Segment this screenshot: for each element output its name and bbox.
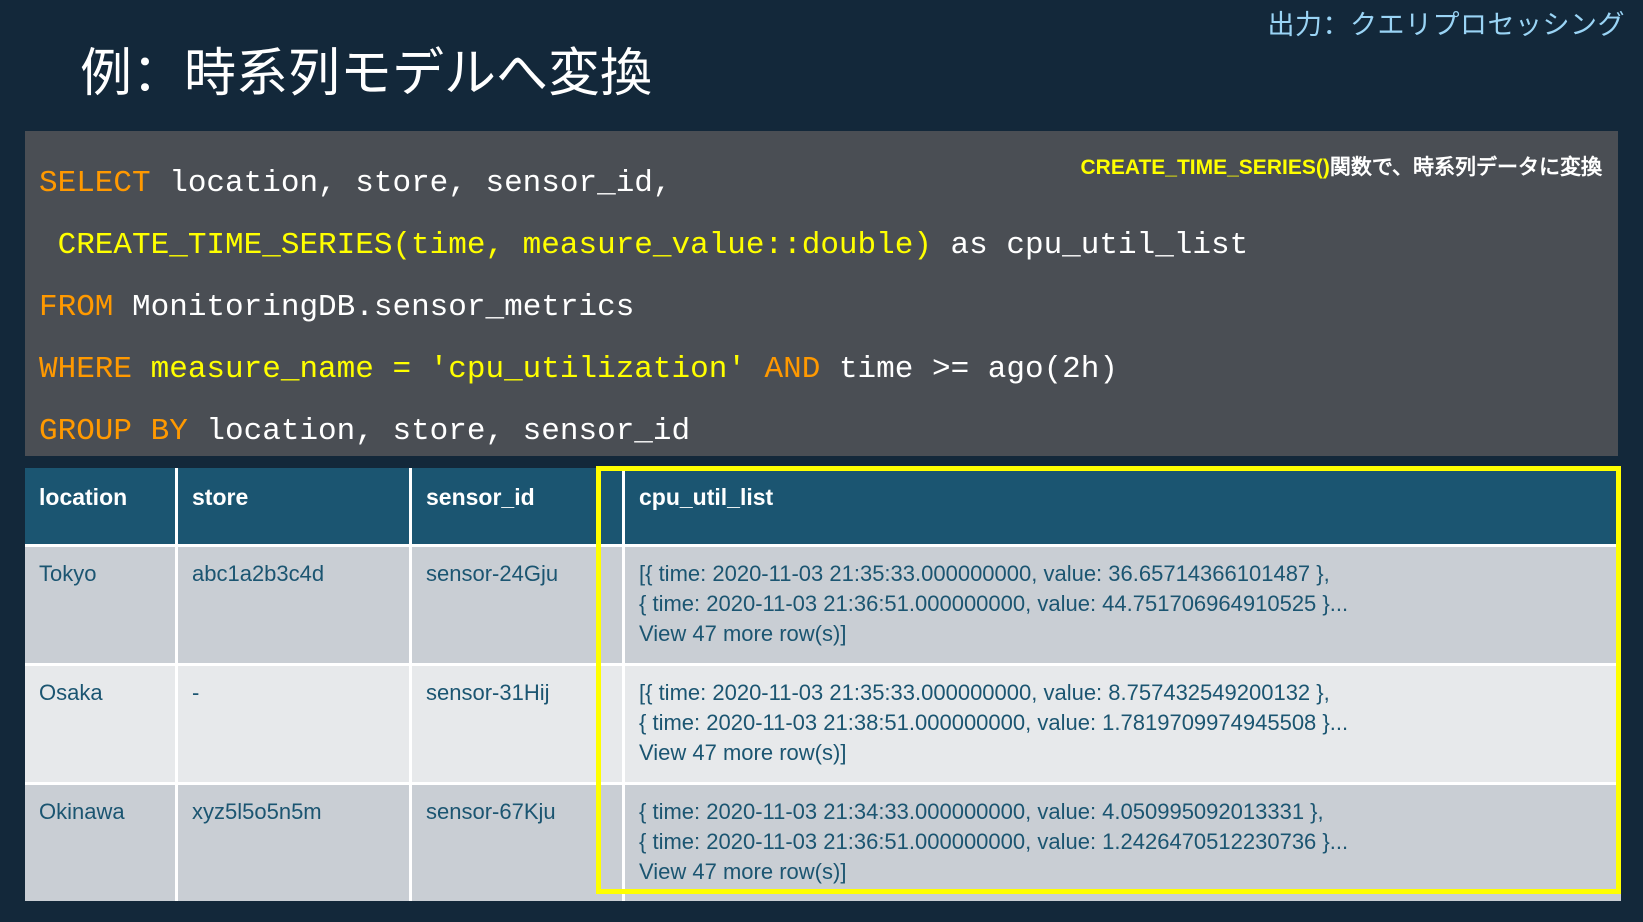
column-header-cpu-util-list: cpu_util_list	[625, 468, 1621, 544]
column-header-location: location	[25, 468, 178, 544]
cell-store: abc1a2b3c4d	[178, 544, 412, 663]
sql-space	[746, 352, 765, 387]
cpu-util-list-view-more[interactable]: View 47 more row(s)]	[639, 738, 1607, 768]
cpu-util-list-line-1: [{ time: 2020-11-03 21:35:33.000000000, …	[639, 678, 1607, 708]
column-header-sensor-id: sensor_id	[412, 468, 625, 544]
cell-location: Okinawa	[25, 782, 178, 901]
cell-cpu-util-list: [{ time: 2020-11-03 21:35:33.000000000, …	[625, 544, 1621, 663]
code-line-create-time-series: CREATE_TIME_SERIES(time, measure_value::…	[25, 215, 1618, 277]
table-row: Okinawa xyz5l5o5n5m sensor-67Kju { time:…	[25, 782, 1621, 901]
sql-keyword-select: SELECT	[39, 166, 151, 201]
sql-time-predicate: time >= ago(2h)	[820, 352, 1118, 387]
sql-keyword-and: AND	[765, 352, 821, 387]
cpu-util-list-view-more[interactable]: View 47 more row(s)]	[639, 857, 1607, 887]
cell-store: -	[178, 663, 412, 782]
code-line-from: FROM MonitoringDB.sensor_metrics	[25, 277, 1618, 339]
table-row: Osaka - sensor-31Hij [{ time: 2020-11-03…	[25, 663, 1621, 782]
sql-keyword-from: FROM	[39, 290, 113, 325]
annotation-description: 関数で、時系列データに変換	[1330, 156, 1602, 179]
cell-location: Osaka	[25, 663, 178, 782]
cell-cpu-util-list: { time: 2020-11-03 21:34:33.000000000, v…	[625, 782, 1621, 901]
column-header-store: store	[178, 468, 412, 544]
section-label: 出力：クエリプロセッシング	[1268, 8, 1626, 42]
cpu-util-list-line-1: [{ time: 2020-11-03 21:35:33.000000000, …	[639, 559, 1607, 589]
cell-sensor-id: sensor-67Kju	[412, 782, 625, 901]
cell-sensor-id: sensor-31Hij	[412, 663, 625, 782]
cpu-util-list-view-more[interactable]: View 47 more row(s)]	[639, 619, 1607, 649]
code-annotation: CREATE_TIME_SERIES()関数で、時系列データに変換	[1081, 151, 1603, 181]
code-line-group-by: GROUP BY location, store, sensor_id	[25, 401, 1618, 463]
cell-store: xyz5l5o5n5m	[178, 782, 412, 901]
sql-alias-cpu-util-list: as cpu_util_list	[932, 228, 1248, 263]
cpu-util-list-line-2: { time: 2020-11-03 21:36:51.000000000, v…	[639, 589, 1607, 619]
cpu-util-list-line-2: { time: 2020-11-03 21:36:51.000000000, v…	[639, 827, 1607, 857]
cpu-util-list-line-1: { time: 2020-11-03 21:34:33.000000000, v…	[639, 797, 1607, 827]
sql-select-columns: location, store, sensor_id,	[151, 166, 672, 201]
sql-code-block: CREATE_TIME_SERIES()関数で、時系列データに変換 SELECT…	[25, 131, 1618, 456]
sql-from-table: MonitoringDB.sensor_metrics	[113, 290, 634, 325]
page-title: 例：時系列モデルへ変換	[80, 42, 652, 106]
sql-keyword-group-by: GROUP BY	[39, 414, 188, 449]
query-result-table: location store sensor_id cpu_util_list T…	[25, 468, 1621, 901]
cell-cpu-util-list: [{ time: 2020-11-03 21:35:33.000000000, …	[625, 663, 1621, 782]
table-row: Tokyo abc1a2b3c4d sensor-24Gju [{ time: …	[25, 544, 1621, 663]
sql-keyword-where: WHERE	[39, 352, 132, 387]
sql-group-by-columns: location, store, sensor_id	[188, 414, 690, 449]
annotation-function-name: CREATE_TIME_SERIES()	[1081, 156, 1330, 179]
sql-create-time-series-call: CREATE_TIME_SERIES(time, measure_value::…	[39, 228, 932, 263]
cell-sensor-id: sensor-24Gju	[412, 544, 625, 663]
cpu-util-list-line-2: { time: 2020-11-03 21:38:51.000000000, v…	[639, 708, 1607, 738]
cell-location: Tokyo	[25, 544, 178, 663]
table-header-row: location store sensor_id cpu_util_list	[25, 468, 1621, 544]
code-line-where: WHERE measure_name = 'cpu_utilization' A…	[25, 339, 1618, 401]
sql-where-predicate: measure_name = 'cpu_utilization'	[132, 352, 746, 387]
